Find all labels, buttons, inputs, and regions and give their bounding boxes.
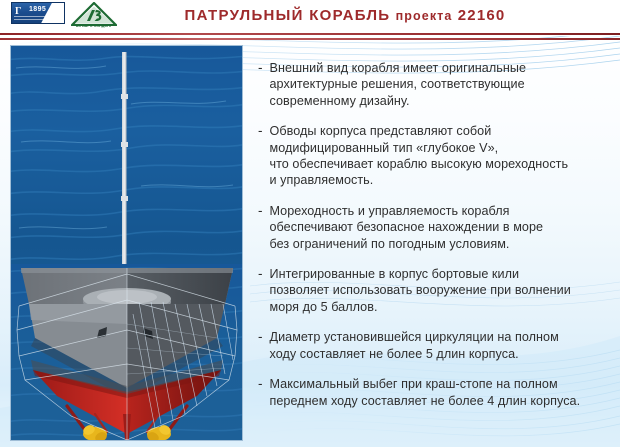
bullet-line: что обеспечивает кораблю высокую мореход… [270,156,569,172]
bullet-text: Внешний вид корабля имеет оригинальные а… [270,60,527,109]
bullet-line: современному дизайну. [270,93,527,109]
bullet-text: Обводы корпуса представляют собой модифи… [270,123,569,189]
bullet-line: Обводы корпуса представляют собой [270,123,569,139]
bullet-line: ходу составляет не более 5 длин корпуса. [270,346,559,362]
title-main-text: ПАТРУЛЬНЫЙ КОРАБЛЬ [185,7,391,24]
bullet-marker: - [258,329,263,362]
presentation-slide: Г 1895 АК БАРС ХОЛДИНГ ПАТРУЛЬНЫЙ КОРАБЛ… [0,0,620,447]
bullet-marker: - [258,123,263,189]
bullet-line: модифицированный тип «глубокое V», [270,140,569,156]
bullet-line: моря до 5 баллов. [270,299,571,315]
bullet-line: Интегрированные в корпус бортовые кили [270,266,571,282]
bullet-line: Мореходность и управляемость корабля [270,203,544,219]
list-item: - Внешний вид корабля имеет оригинальные… [258,60,614,109]
list-item: - Интегрированные в корпус бортовые кили… [258,266,614,315]
bullet-line: и управляемость. [270,172,569,188]
title-project-number: 22160 [458,7,506,24]
specification-bullet-list: - Внешний вид корабля имеет оригинальные… [258,60,614,423]
bullet-text: Диаметр установившейся циркуляции на пол… [270,329,559,362]
bullet-line: переднем ходу составляет не более 4 длин… [270,393,581,409]
bullet-line: Диаметр установившейся циркуляции на пол… [270,329,559,345]
bullet-marker: - [258,376,263,409]
slide-header: Г 1895 АК БАРС ХОЛДИНГ ПАТРУЛЬНЫЙ КОРАБЛ… [0,0,620,36]
bullet-text: Максимальный выбег при краш-стопе на пол… [270,376,581,409]
list-item: - Диаметр установившейся циркуляции на п… [258,329,614,362]
bullet-line: обеспечивают безопасное нахождении в мор… [270,219,544,235]
bullet-text: Мореходность и управляемость корабля обе… [270,203,544,252]
ship-underwater-hull-render [11,264,242,440]
bullet-marker: - [258,60,263,109]
bullet-line: без ограничений по погодным условиям. [270,236,544,252]
bullet-line: Внешний вид корабля имеет оригинальные [270,60,527,76]
list-item: - Обводы корпуса представляют собой моди… [258,123,614,189]
title-sub-text: проекта [396,9,453,23]
bullet-line: Максимальный выбег при краш-стопе на пол… [270,376,581,392]
header-divider-lower [0,38,620,40]
bullet-marker: - [258,266,263,315]
bullet-line: архитектурные решения, соответствующие [270,76,527,92]
ak-bars-holding-caption: АК БАРС ХОЛДИНГ [71,24,117,28]
list-item: - Мореходность и управляемость корабля о… [258,203,614,252]
page-title: ПАТРУЛЬНЫЙ КОРАБЛЬ проекта 22160 [0,7,620,24]
bullet-text: Интегрированные в корпус бортовые кили п… [270,266,571,315]
bullet-line: позволяет использовать вооружение при во… [270,282,571,298]
list-item: - Максимальный выбег при краш-стопе на п… [258,376,614,409]
bullet-marker: - [258,203,263,252]
header-divider-upper [0,33,620,35]
